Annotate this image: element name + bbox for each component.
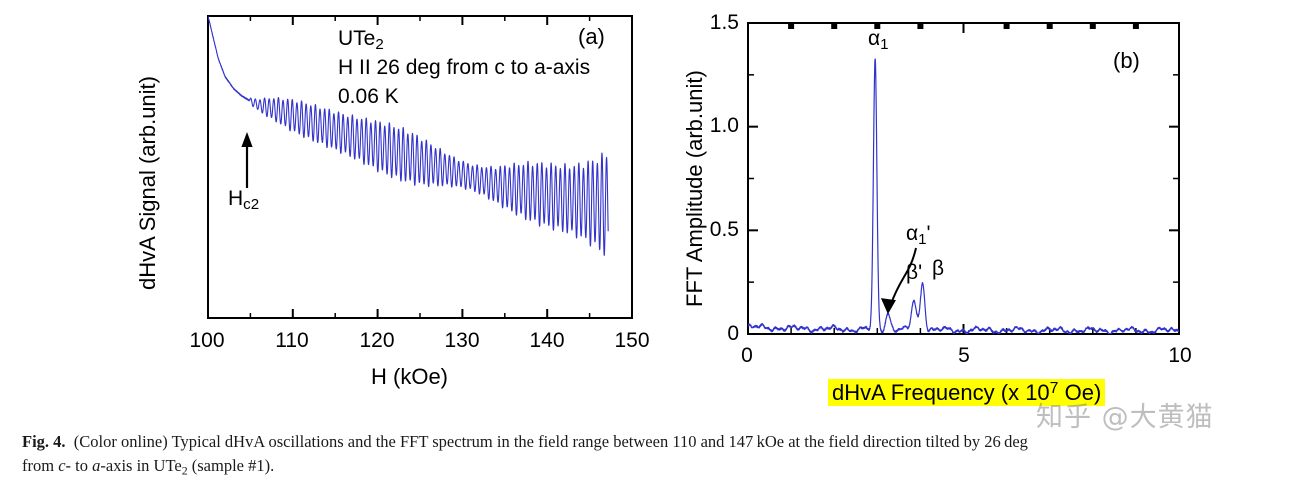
alpha1-prime-base: α: [906, 222, 918, 245]
panel-b-xtick-2: 10: [1155, 345, 1205, 366]
caption-line1: (Color online) Typical dHvA oscillations…: [74, 432, 1028, 451]
panel-b-x-axis-title-highlight: dHvA Frequency (x 107 Oe): [828, 379, 1105, 406]
alpha1-base: α: [868, 27, 880, 50]
caption-line2-pre: from: [22, 456, 58, 475]
panel-b-y-axis-title: FFT Amplitude (arb.unit): [684, 70, 706, 307]
alpha1-subscript: 1: [880, 36, 888, 53]
alpha1-prime-subscript: 1: [918, 231, 926, 248]
panel-b-beta-label: β: [932, 258, 944, 279]
panel-b-alpha1-label: α1: [868, 28, 889, 52]
panel-b-x-axis-title: dHvA Frequency (x 107 Oe): [828, 381, 1105, 404]
xlabel-base: dHvA Frequency (x 10: [832, 380, 1050, 405]
caption-axis-c: c: [58, 456, 65, 475]
figure-page: 100 110 120 130 140 150 H (kOe) dHvA Sig…: [0, 0, 1301, 489]
panel-b-xtick-0: 0: [722, 345, 772, 366]
alpha1-prime-mark: ': [927, 222, 931, 245]
caption-line2-mid: - to: [66, 456, 93, 475]
panel-b-beta-prime-label: β': [906, 262, 922, 283]
caption-line2-post: -axis in UTe: [100, 456, 181, 475]
panel-b-plot-area: [0, 0, 1301, 489]
caption-line2-end: (sample #1).: [188, 456, 275, 475]
panel-b-xtick-1: 5: [939, 345, 989, 366]
panel-b-alpha1-prime-label: α1': [906, 223, 931, 247]
panel-b-ytick-0: 0: [695, 323, 739, 344]
xlabel-tail: Oe): [1058, 380, 1101, 405]
figure-caption: Fig. 4. (Color online) Typical dHvA osci…: [22, 430, 1284, 480]
caption-label: Fig. 4.: [22, 432, 66, 451]
panel-b-ytick-3: 1.5: [695, 12, 739, 33]
panel-b-tag: (b): [1113, 50, 1140, 72]
